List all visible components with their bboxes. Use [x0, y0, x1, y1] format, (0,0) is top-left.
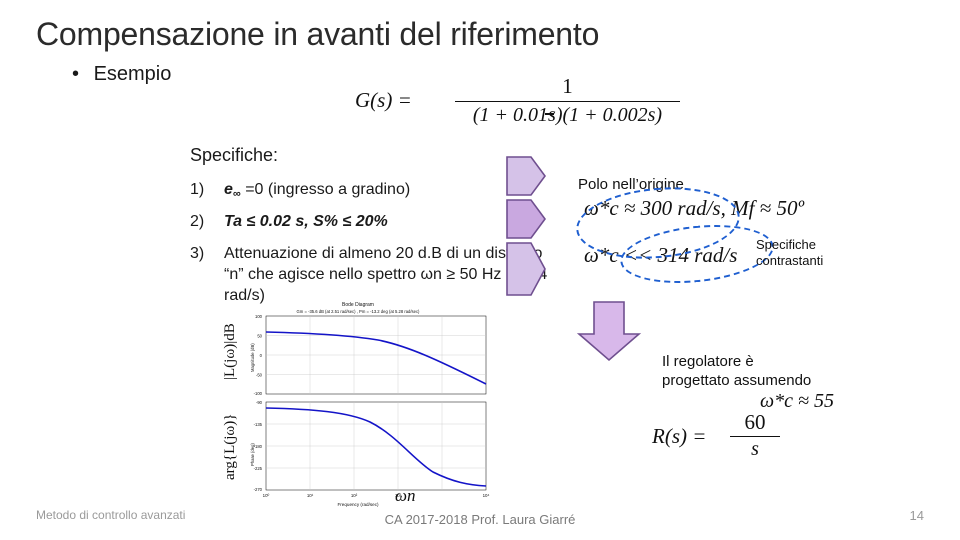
svg-text:-100: -100 — [254, 391, 263, 396]
formula-g-numerator: 1 — [455, 74, 680, 99]
formula-r-denominator: s — [730, 438, 780, 461]
formula-g-lhs: G(s) = — [355, 88, 412, 113]
svg-text:Phase (deg): Phase (deg) — [250, 443, 255, 466]
footer-center: CA 2017-2018 Prof. Laura Giarré — [0, 512, 960, 527]
svg-text:0: 0 — [260, 353, 263, 358]
regolatore-text: Il regolatore è progettato assumendo — [662, 352, 822, 390]
svg-text:50: 50 — [257, 334, 262, 339]
spec-number-1: 1) — [190, 179, 218, 200]
svg-text:10¹: 10¹ — [307, 493, 314, 498]
svg-text:Magnitude (dB): Magnitude (dB) — [250, 343, 255, 372]
bullet-dot: • — [72, 63, 88, 86]
slide: Compensazione in avanti del riferimento … — [0, 0, 960, 540]
svg-text:-50: -50 — [256, 373, 263, 378]
svg-text:-135: -135 — [254, 422, 263, 427]
annotation-phase-formula: arg{L(jω)} — [222, 414, 239, 480]
annotation-magnitude-formula: |L(jω)|dB — [222, 323, 239, 380]
chevron-arrow-3 — [505, 241, 547, 297]
bullet-item: • Esempio — [72, 63, 171, 86]
page-title: Compensazione in avanti del riferimento — [36, 16, 896, 53]
bode-diagram: Bode Diagram Gm = -35.6 dB (at 2.51 rad/… — [218, 302, 498, 514]
annotation-omega-n: ωn — [395, 486, 416, 506]
fraction-bar — [455, 101, 680, 102]
svg-text:-270: -270 — [254, 487, 263, 492]
svg-text:100: 100 — [255, 314, 263, 319]
bode-title: Bode Diagram — [218, 302, 498, 308]
chevron-arrow-1 — [505, 155, 547, 197]
formula-r-lhs: R(s) = — [652, 424, 706, 449]
specifiche-contrastanti-label: Specifiche contrastanti — [756, 237, 876, 269]
bode-subtitle: Gm = -35.6 dB (at 2.51 rad/sec) , Pm = -… — [218, 309, 498, 314]
spec-number-2: 2) — [190, 211, 218, 232]
spec1-rest: =0 (ingresso a gradino) — [241, 181, 410, 198]
svg-text:10²: 10² — [351, 493, 358, 498]
specifiche-heading: Specifiche: — [190, 145, 278, 166]
formula-r-fraction: 60 s — [730, 410, 780, 461]
fraction-bar — [730, 436, 780, 437]
spec1-symbol: e — [224, 181, 233, 198]
spec-number-3: 3) — [190, 243, 218, 264]
chevron-arrow-down — [576, 300, 642, 362]
svg-text:10⁴: 10⁴ — [483, 493, 490, 498]
spec1-subscript: ∞ — [233, 188, 241, 200]
formula-g-denominator: (1 + 0.01s)(1 + 0.002s) — [455, 104, 680, 127]
svg-text:-90: -90 — [256, 400, 263, 405]
bullet-label: Esempio — [94, 63, 172, 85]
formula-r-numerator: 60 — [730, 410, 780, 435]
formula-g-fraction: 1 (1 + 0.01s)(1 + 0.002s) — [455, 74, 680, 127]
footer-page-number: 14 — [910, 508, 924, 523]
bode-xlabel: Frequency (rad/sec) — [218, 502, 498, 507]
stray-mark — [545, 113, 554, 115]
formula-transfer-function: G(s) = 1 (1 + 0.01s)(1 + 0.002s) — [355, 72, 685, 136]
svg-text:10⁰: 10⁰ — [263, 493, 270, 498]
bode-plot-svg: 100 50 0 -50 -100 -90 -135 -180 -225 -27… — [218, 302, 498, 502]
chevron-arrow-2 — [505, 198, 547, 240]
